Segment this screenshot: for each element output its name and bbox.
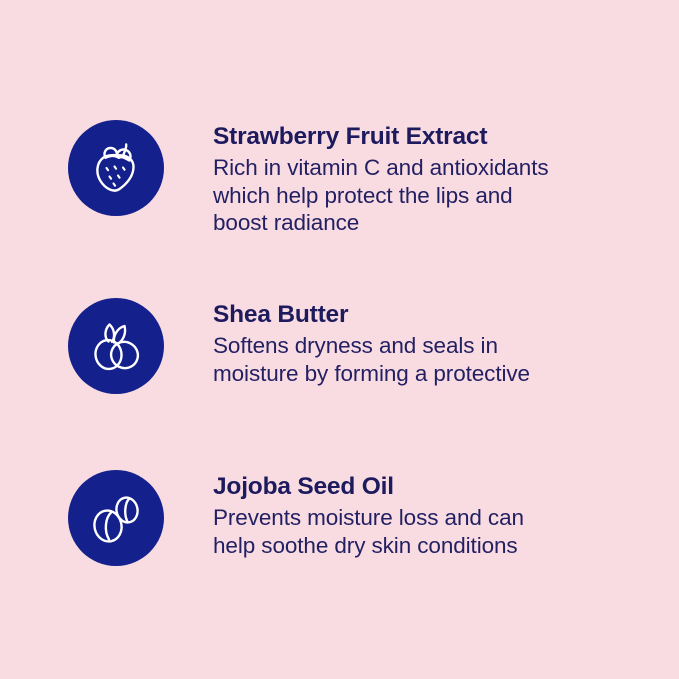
benefit-text-block: Jojoba Seed Oil Prevents moisture loss a… xyxy=(213,470,524,559)
description-line: boost radiance xyxy=(213,209,549,237)
description-line: help soothe dry skin conditions xyxy=(213,532,524,560)
benefit-title: Jojoba Seed Oil xyxy=(213,472,524,502)
benefit-item-jojoba: Jojoba Seed Oil Prevents moisture loss a… xyxy=(68,470,524,566)
description-line: Rich in vitamin C and antioxidants xyxy=(213,154,549,182)
ingredient-benefits-infographic: Strawberry Fruit Extract Rich in vitamin… xyxy=(0,0,679,679)
strawberry-icon-badge xyxy=(68,120,164,216)
benefit-item-strawberry: Strawberry Fruit Extract Rich in vitamin… xyxy=(68,120,549,237)
benefit-title: Shea Butter xyxy=(213,300,530,330)
strawberry-icon xyxy=(85,137,147,199)
shea-nut-icon-badge xyxy=(68,298,164,394)
jojoba-seed-icon xyxy=(85,487,147,549)
description-line: Prevents moisture loss and can xyxy=(213,504,524,532)
shea-nut-icon xyxy=(85,315,147,377)
benefit-text-block: Shea Butter Softens dryness and seals in… xyxy=(213,298,530,387)
benefit-description: Prevents moisture loss and can help soot… xyxy=(213,504,524,559)
benefit-description: Softens dryness and seals in moisture by… xyxy=(213,332,530,387)
description-line: which help protect the lips and xyxy=(213,182,549,210)
benefit-title: Strawberry Fruit Extract xyxy=(213,122,549,152)
benefit-text-block: Strawberry Fruit Extract Rich in vitamin… xyxy=(213,120,549,237)
benefit-item-shea-butter: Shea Butter Softens dryness and seals in… xyxy=(68,298,530,394)
description-line: Softens dryness and seals in xyxy=(213,332,530,360)
description-line: moisture by forming a protective xyxy=(213,360,530,388)
jojoba-seed-icon-badge xyxy=(68,470,164,566)
benefit-description: Rich in vitamin C and antioxidants which… xyxy=(213,154,549,237)
